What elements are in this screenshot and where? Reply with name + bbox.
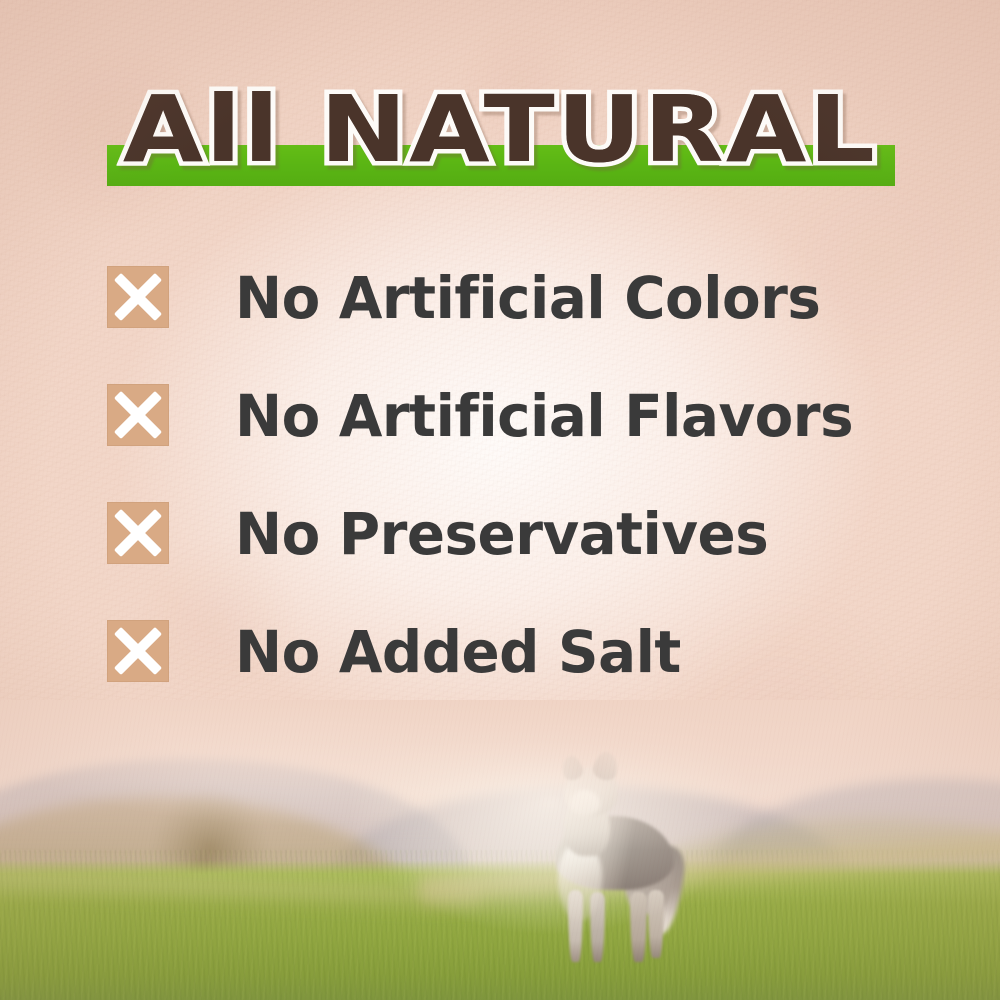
x-mark-icon: [107, 620, 169, 682]
all-natural-feature-poster: All NATURAL All NATURAL No Artificial Co…: [0, 0, 1000, 1000]
feature-list: No Artificial Colors No Artificial Flavo…: [107, 262, 907, 734]
feature-item-no-preservatives: No Preservatives: [107, 498, 907, 616]
feature-item-no-artificial-colors: No Artificial Colors: [107, 262, 907, 380]
feature-item-no-artificial-flavors: No Artificial Flavors: [107, 380, 907, 498]
dog-back-leg-left: [630, 892, 647, 962]
feature-label: No Artificial Colors: [235, 256, 820, 340]
feature-label: No Preservatives: [235, 492, 768, 576]
feature-label: No Added Salt: [235, 610, 681, 694]
meadow-photo: [0, 700, 1000, 1000]
x-mark-icon: [107, 384, 169, 446]
dog: [534, 750, 694, 968]
x-mark-icon: [107, 266, 169, 328]
x-mark-icon: [107, 502, 169, 564]
dog-back-leg-right: [648, 890, 664, 958]
headline-area: All NATURAL All NATURAL: [0, 78, 1000, 198]
dog-snout: [570, 790, 600, 816]
headline-text: All NATURAL: [0, 78, 1000, 182]
feature-label: No Artificial Flavors: [235, 374, 853, 458]
